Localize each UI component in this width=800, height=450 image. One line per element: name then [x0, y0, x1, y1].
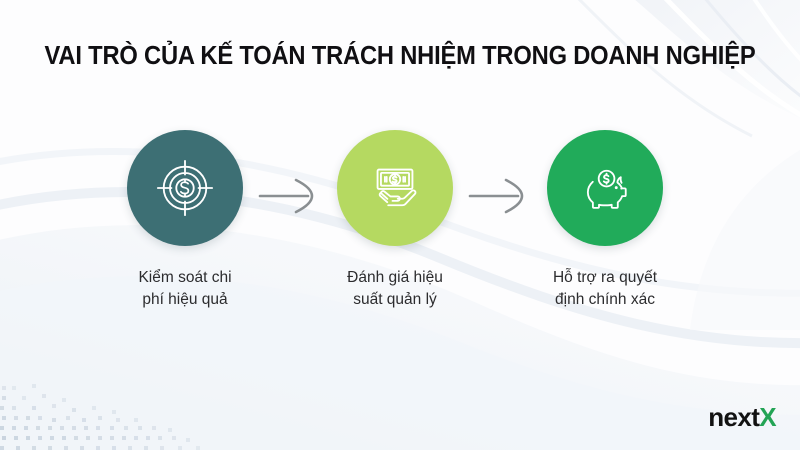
icon-circle-3[interactable]: [547, 130, 663, 246]
flow-step-caption: Hỗ trợ ra quyết định chính xác: [500, 267, 710, 311]
icon-circle-2[interactable]: [337, 130, 453, 246]
flow-step-caption: Kiểm soát chi phí hiệu quả: [80, 267, 290, 311]
process-flow: Kiểm soát chi phí hiệu quả: [0, 130, 800, 320]
infographic-canvas: VAI TRÒ CỦA KẾ TOÁN TRÁCH NHIỆM TRONG DO…: [0, 0, 800, 450]
flow-step-decision-support[interactable]: Hỗ trợ ra quyết định chính xác: [500, 130, 710, 311]
page-title: VAI TRÒ CỦA KẾ TOÁN TRÁCH NHIỆM TRONG DO…: [28, 42, 772, 71]
arrow-right-icon-1: [256, 176, 322, 216]
brand-logo-accent: X: [759, 402, 776, 432]
icon-circle-1[interactable]: [127, 130, 243, 246]
arrow-right-icon-2: [466, 176, 532, 216]
background-dot-pattern: [0, 380, 270, 450]
flow-step-caption: Đánh giá hiệu suất quản lý: [290, 267, 500, 311]
brand-logo-primary: next: [708, 402, 759, 432]
target-dollar-icon: [154, 157, 216, 219]
piggy-bank-icon: [574, 157, 636, 219]
brand-logo[interactable]: nextX: [708, 404, 776, 430]
flow-step-performance-evaluation[interactable]: Đánh giá hiệu suất quản lý: [290, 130, 500, 311]
flow-step-cost-control[interactable]: Kiểm soát chi phí hiệu quả: [80, 130, 290, 311]
hand-holding-money-icon: [364, 157, 426, 219]
